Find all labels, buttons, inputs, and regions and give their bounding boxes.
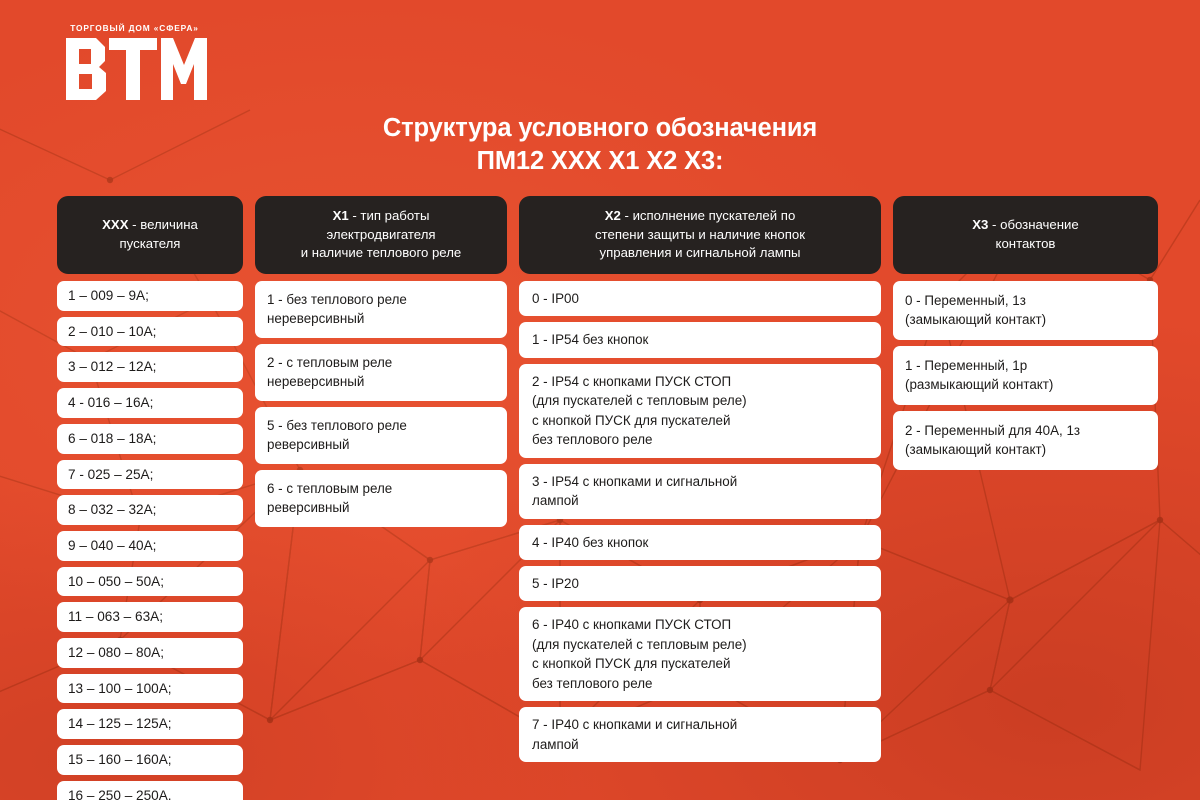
column-header-x2: Х2 - исполнение пускателей по степени за… (519, 196, 881, 274)
list-item[interactable]: 5 - без теплового реле реверсивный (255, 407, 507, 464)
column-xxx: ХХХ - величина пускателя 1 – 009 – 9А; 2… (57, 196, 243, 800)
column-x3: Х3 - обозначение контактов 0 - Переменны… (893, 196, 1158, 476)
infographic-page: ТОРГОВЫЙ ДОМ «СФЕРА» Структура условного… (0, 0, 1200, 800)
list-item-line: с кнопкой ПУСК для пускателей (532, 411, 868, 430)
column-header-x2-text: Х2 - исполнение пускателей по степени за… (595, 207, 805, 263)
list-item-line: 1 - без теплового реле (267, 290, 495, 309)
list-item-line: (замыкающий контакт) (905, 310, 1146, 329)
list-item-line: 8 – 032 – 32А; (68, 500, 232, 520)
list-item-line: лампой (532, 491, 868, 510)
list-item[interactable]: 2 – 010 – 10А; (57, 317, 243, 347)
list-item-line: 3 – 012 – 12А; (68, 357, 232, 377)
list-item[interactable]: 1 - Переменный, 1р (размыкающий контакт) (893, 346, 1158, 405)
list-item-line: 6 – 018 – 18А; (68, 429, 232, 449)
list-item[interactable]: 16 – 250 – 250А. (57, 781, 243, 800)
column-header-x1-text: Х1 - тип работы электродвигателя и налич… (301, 207, 461, 263)
list-item-line: 12 – 080 – 80А; (68, 643, 232, 663)
column-header-line: ХХХ - величина (102, 216, 198, 235)
list-item-line: реверсивный (267, 435, 495, 454)
list-item-line: 2 - IP54 с кнопками ПУСК СТОП (532, 372, 868, 391)
list-item[interactable]: 6 - с тепловым реле реверсивный (255, 470, 507, 527)
list-item-line: (замыкающий контакт) (905, 440, 1146, 459)
list-item[interactable]: 1 - без теплового реле нереверсивный (255, 281, 507, 338)
list-item-line: 15 – 160 – 160А; (68, 750, 232, 770)
page-title-line-1: Структура условного обозначения (383, 114, 817, 142)
list-item-line: 6 - с тепловым реле (267, 479, 495, 498)
list-item-line: нереверсивный (267, 309, 495, 328)
list-item[interactable]: 4 - IP40 без кнопок (519, 525, 881, 560)
list-item[interactable]: 10 – 050 – 50А; (57, 567, 243, 597)
list-item-line: 9 – 040 – 40А; (68, 536, 232, 556)
column-header-x3-text: Х3 - обозначение контактов (972, 216, 1079, 253)
list-item-line: 5 - без теплового реле (267, 416, 495, 435)
list-item[interactable]: 6 - IP40 с кнопками ПУСК СТОП (для пуска… (519, 607, 881, 701)
list-item[interactable]: 0 - IP00 (519, 281, 881, 316)
column-header-x3: Х3 - обозначение контактов (893, 196, 1158, 274)
list-item-line: с кнопкой ПУСК для пускателей (532, 654, 868, 673)
page-title-line-2: ПМ12 ХХХ Х1 Х2 Х3: (250, 145, 950, 178)
list-item-line: (размыкающий контакт) (905, 375, 1146, 394)
list-item-line: лампой (532, 735, 868, 754)
list-item[interactable]: 2 - с тепловым реле нереверсивный (255, 344, 507, 401)
list-item-line: 13 – 100 – 100А; (68, 679, 232, 699)
list-item[interactable]: 12 – 080 – 80А; (57, 638, 243, 668)
column-header-line: управления и сигнальной лампы (595, 244, 805, 263)
page-title: Структура условного обозначения ПМ12 ХХХ… (250, 112, 950, 177)
list-item-line: 14 – 125 – 125А; (68, 714, 232, 734)
logo-tagline: ТОРГОВЫЙ ДОМ «СФЕРА» (64, 24, 205, 33)
list-item[interactable]: 4 - 016 – 16А; (57, 388, 243, 418)
list-item-line: 10 – 050 – 50А; (68, 572, 232, 592)
column-x3-list: 0 - Переменный, 1з (замыкающий контакт) … (893, 281, 1158, 470)
list-item-line: 2 - с тепловым реле (267, 353, 495, 372)
column-header-line: Х1 - тип работы (301, 207, 461, 226)
list-item[interactable]: 5 - IP20 (519, 566, 881, 601)
list-item[interactable]: 0 - Переменный, 1з (замыкающий контакт) (893, 281, 1158, 340)
list-item[interactable]: 7 - IP40 с кнопками и сигнальной лампой (519, 707, 881, 762)
list-item-line: 7 - 025 – 25А; (68, 465, 232, 485)
list-item-line: 1 - IP54 без кнопок (532, 330, 868, 349)
list-item[interactable]: 11 – 063 – 63А; (57, 602, 243, 632)
list-item-line: 1 - Переменный, 1р (905, 356, 1146, 375)
list-item[interactable]: 2 - Переменный для 40А, 1з (замыкающий к… (893, 411, 1158, 470)
list-item-line: 4 - IP40 без кнопок (532, 533, 868, 552)
list-item[interactable]: 1 - IP54 без кнопок (519, 322, 881, 357)
column-header-line: электродвигателя (301, 226, 461, 245)
column-x2-list: 0 - IP00 1 - IP54 без кнопок 2 - IP54 с … (519, 281, 881, 762)
list-item-line: 16 – 250 – 250А. (68, 786, 232, 800)
column-x1: Х1 - тип работы электродвигателя и налич… (255, 196, 507, 533)
column-xxx-list: 1 – 009 – 9А; 2 – 010 – 10А; 3 – 012 – 1… (57, 281, 243, 800)
list-item[interactable]: 1 – 009 – 9А; (57, 281, 243, 311)
list-item[interactable]: 15 – 160 – 160А; (57, 745, 243, 775)
list-item[interactable]: 13 – 100 – 100А; (57, 674, 243, 704)
list-item-line: 7 - IP40 с кнопками и сигнальной (532, 715, 868, 734)
brand-logo: ТОРГОВЫЙ ДОМ «СФЕРА» (62, 24, 207, 100)
list-item-line: (для пускателей с тепловым реле) (532, 635, 868, 654)
list-item-line: 0 - Переменный, 1з (905, 291, 1146, 310)
list-item-line: без теплового реле (532, 430, 868, 449)
logo-vtm-mark (62, 38, 207, 100)
list-item[interactable]: 3 – 012 – 12А; (57, 352, 243, 382)
list-item-line: 1 – 009 – 9А; (68, 286, 232, 306)
column-header-x1: Х1 - тип работы электродвигателя и налич… (255, 196, 507, 274)
column-header-line: пускателя (102, 235, 198, 254)
column-header-line: контактов (972, 235, 1079, 254)
list-item[interactable]: 8 – 032 – 32А; (57, 495, 243, 525)
list-item-line: 3 - IP54 с кнопками и сигнальной (532, 472, 868, 491)
list-item[interactable]: 9 – 040 – 40А; (57, 531, 243, 561)
column-header-line: и наличие теплового реле (301, 244, 461, 263)
list-item-line: реверсивный (267, 498, 495, 517)
list-item-line: нереверсивный (267, 372, 495, 391)
list-item-line: без теплового реле (532, 674, 868, 693)
column-header-line: степени защиты и наличие кнопок (595, 226, 805, 245)
list-item[interactable]: 3 - IP54 с кнопками и сигнальной лампой (519, 464, 881, 519)
column-x2: Х2 - исполнение пускателей по степени за… (519, 196, 881, 768)
column-x1-list: 1 - без теплового реле нереверсивный 2 -… (255, 281, 507, 527)
list-item-line: 11 – 063 – 63А; (68, 607, 232, 627)
list-item-line: 6 - IP40 с кнопками ПУСК СТОП (532, 615, 868, 634)
list-item[interactable]: 6 – 018 – 18А; (57, 424, 243, 454)
list-item[interactable]: 7 - 025 – 25А; (57, 460, 243, 490)
list-item[interactable]: 2 - IP54 с кнопками ПУСК СТОП (для пуска… (519, 364, 881, 458)
list-item[interactable]: 14 – 125 – 125А; (57, 709, 243, 739)
list-item-line: (для пускателей с тепловым реле) (532, 391, 868, 410)
list-item-line: 2 - Переменный для 40А, 1з (905, 421, 1146, 440)
column-header-line: Х2 - исполнение пускателей по (595, 207, 805, 226)
column-header-xxx: ХХХ - величина пускателя (57, 196, 243, 274)
list-item-line: 4 - 016 – 16А; (68, 393, 232, 413)
column-header-xxx-text: ХХХ - величина пускателя (102, 216, 198, 253)
list-item-line: 2 – 010 – 10А; (68, 322, 232, 342)
list-item-line: 0 - IP00 (532, 289, 868, 308)
list-item-line: 5 - IP20 (532, 574, 868, 593)
column-header-line: Х3 - обозначение (972, 216, 1079, 235)
